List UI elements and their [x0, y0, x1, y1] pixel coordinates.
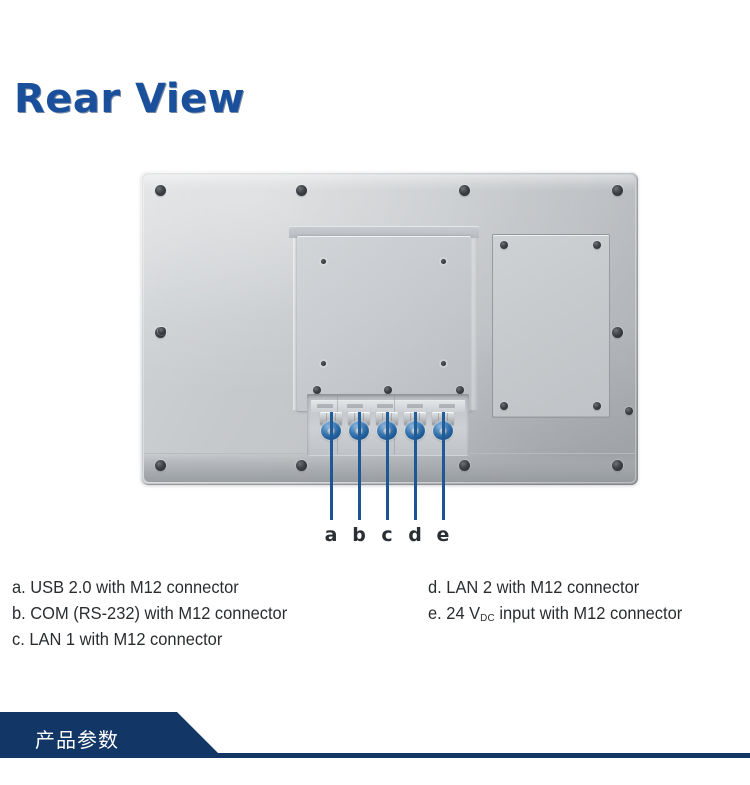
callout-letter-b: b	[347, 523, 371, 547]
chassis-side-screw	[158, 327, 166, 335]
chassis-screw	[459, 185, 470, 196]
legend-item-d: d. LAN 2 with M12 connector	[428, 574, 724, 600]
chassis-top-edge	[144, 175, 635, 191]
callout-letter-a: a	[319, 523, 343, 547]
legend-left-column: a. USB 2.0 with M12 connector b. COM (RS…	[12, 574, 412, 652]
io-port-label	[407, 404, 423, 408]
access-panel-screw	[500, 402, 508, 410]
service-access-panel	[492, 234, 610, 418]
vesa-mount-hole	[321, 361, 326, 366]
chassis-screw	[612, 327, 623, 338]
io-recess-screw	[384, 386, 392, 394]
device-chassis	[141, 172, 638, 485]
access-panel-screw	[593, 402, 601, 410]
callout-line-e	[442, 412, 445, 520]
io-recess-screw	[456, 386, 464, 394]
chassis-screw	[612, 185, 623, 196]
io-recess-screw	[313, 386, 321, 394]
callout-line-d	[414, 412, 417, 520]
vesa-mounting-plate	[297, 236, 471, 412]
io-port-label	[347, 404, 363, 408]
legend-item-c: c. LAN 1 with M12 connector	[12, 626, 388, 652]
chassis-side-screw	[625, 407, 633, 415]
chassis-screw	[155, 185, 166, 196]
page-title: Rear View	[14, 76, 245, 122]
section-banner-label: 产品参数	[35, 724, 119, 753]
chassis-screw	[155, 460, 166, 471]
callout-letter-e: e	[431, 523, 455, 547]
chassis-bottom-edge	[144, 453, 635, 482]
callout-line-b	[358, 412, 361, 520]
chassis-screw	[296, 460, 307, 471]
chassis-screw	[459, 460, 470, 471]
callout-line-c	[386, 412, 389, 520]
section-banner: 产品参数	[0, 712, 750, 760]
legend-item-a: a. USB 2.0 with M12 connector	[12, 574, 388, 600]
legend-item-e-prefix: e. 24 V	[428, 603, 480, 623]
access-panel-screw	[593, 241, 601, 249]
vesa-mount-hole	[441, 259, 446, 264]
vesa-rail-right	[471, 238, 478, 410]
callout-letter-c: c	[375, 523, 399, 547]
vesa-mount-hole	[441, 361, 446, 366]
access-panel-screw	[500, 241, 508, 249]
callout-line-a	[330, 412, 333, 520]
vesa-mount-hole	[321, 259, 326, 264]
callout-letter-row: a b c d e	[0, 523, 750, 549]
legend-item-e: e. 24 VDC input with M12 connector	[428, 600, 724, 629]
legend-right-column: d. LAN 2 with M12 connector e. 24 VDC in…	[428, 574, 743, 629]
io-port-label	[377, 404, 393, 408]
chassis-screw	[612, 460, 623, 471]
legend-item-b: b. COM (RS-232) with M12 connector	[12, 600, 388, 626]
product-rear-view-figure	[0, 150, 750, 560]
legend-item-e-subscript: DC	[480, 612, 495, 624]
io-port-label	[439, 404, 455, 408]
connector-legend: a. USB 2.0 with M12 connector b. COM (RS…	[0, 574, 750, 674]
legend-item-e-suffix: input with M12 connector	[495, 603, 682, 623]
io-port-label	[317, 404, 333, 408]
chassis-screw	[296, 185, 307, 196]
io-port-label-strip	[311, 400, 465, 412]
callout-letter-d: d	[403, 523, 427, 547]
